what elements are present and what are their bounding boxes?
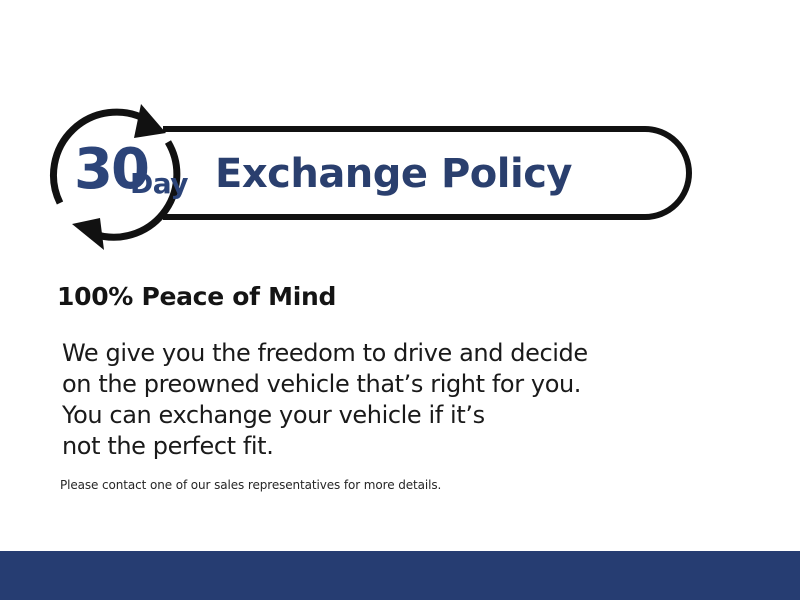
fineprint-disclaimer: Please contact one of our sales represen… <box>60 477 441 493</box>
slide-canvas: 30 Day Exchange Policy 100% Peace of Min… <box>0 0 800 600</box>
paragraph-line: not the perfect fit. <box>62 431 702 462</box>
paragraph-line: We give you the freedom to drive and dec… <box>62 338 702 369</box>
cycle-arrows-svg <box>46 98 191 258</box>
footer-bar <box>0 551 800 600</box>
subheading: 100% Peace of Mind <box>57 281 336 313</box>
page-title: Exchange Policy <box>215 150 572 198</box>
paragraph-line: on the preowned vehicle that’s right for… <box>62 369 702 400</box>
circular-exchange-arrows-icon <box>46 98 191 258</box>
paragraph-line: You can exchange your vehicle if it’s <box>62 400 702 431</box>
body-paragraph: We give you the freedom to drive and dec… <box>62 338 702 462</box>
